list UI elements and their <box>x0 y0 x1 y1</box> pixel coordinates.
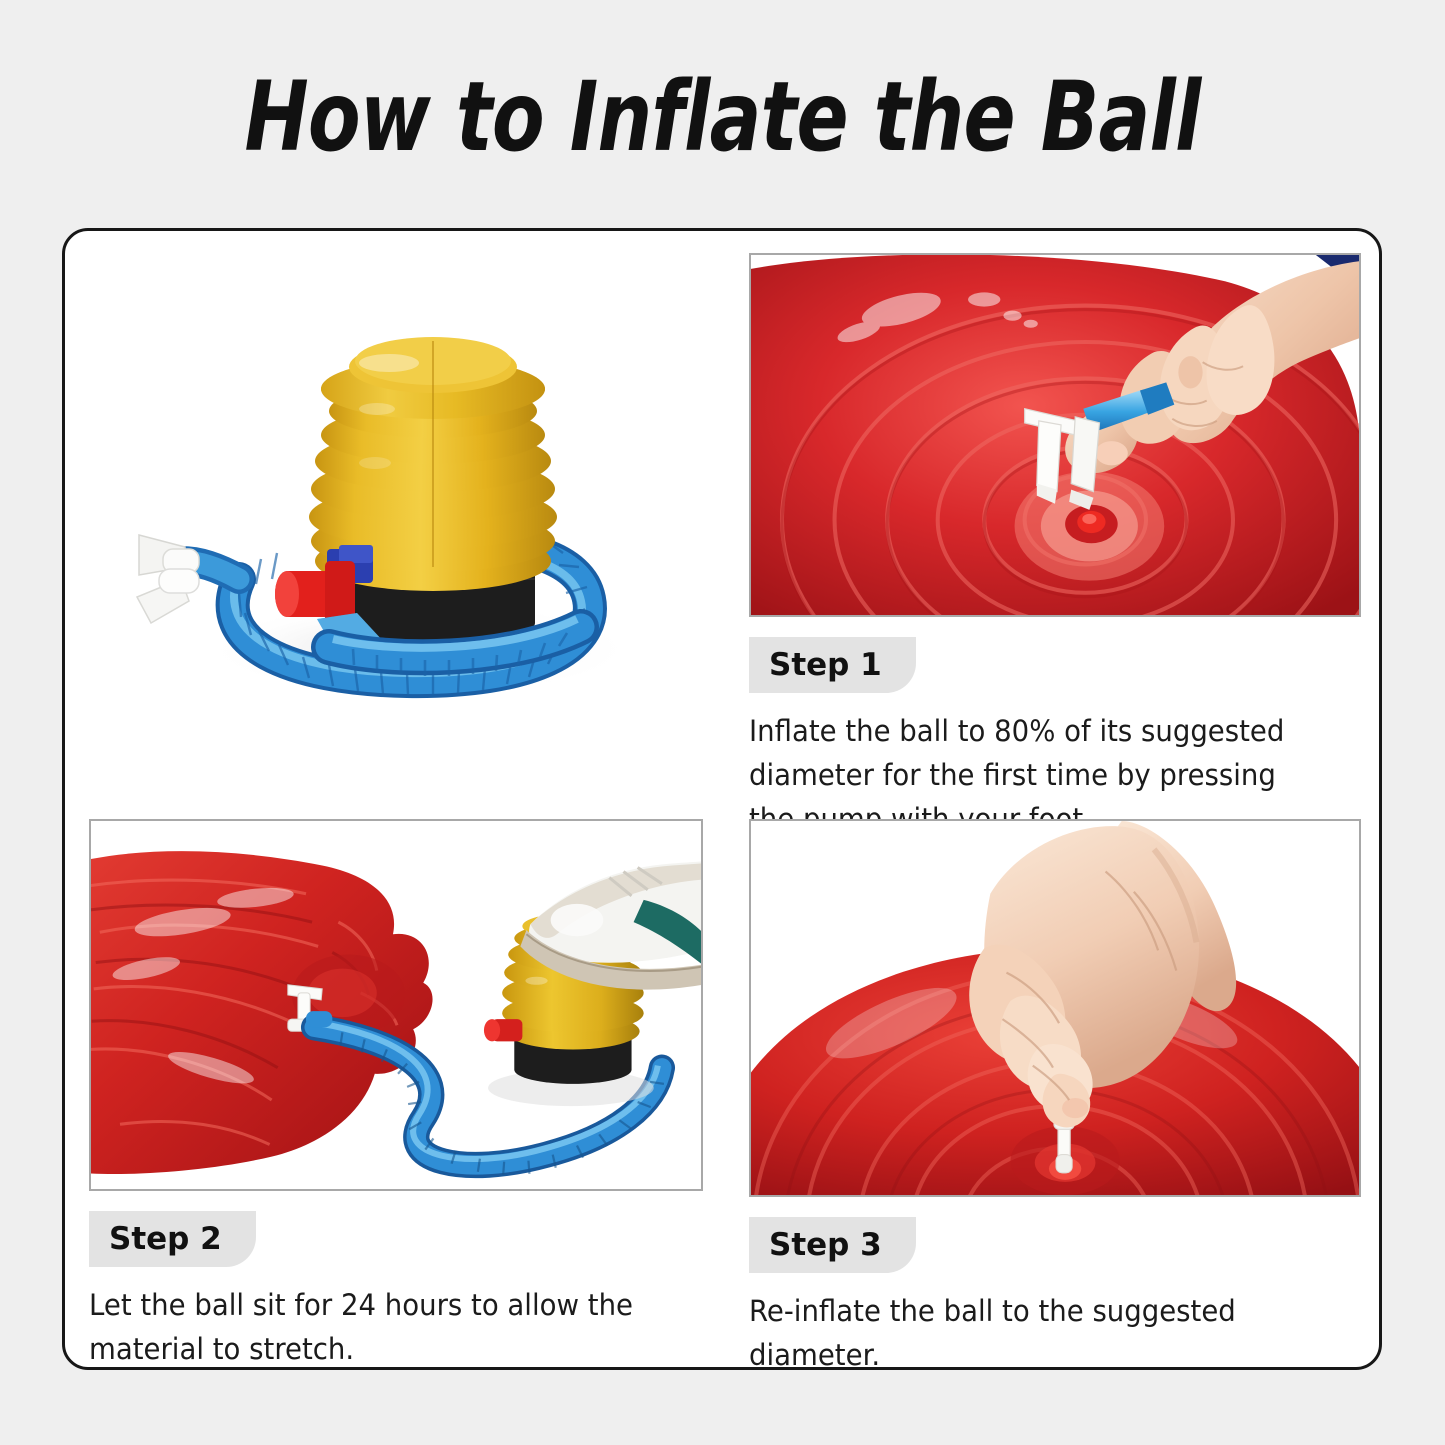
step3-badge: Step 3 <box>749 1217 916 1273</box>
step2-text: Let the ball sit for 24 hours to allow t… <box>89 1283 640 1371</box>
foot-pump-photo <box>89 249 725 761</box>
infographic-page: How to Inflate the Ball <box>0 0 1445 1445</box>
step3-photo <box>749 819 1361 1197</box>
hand-inserting-valve-plug-illustration <box>751 255 1359 615</box>
steps-card: Step 1 Inflate the ball to 80% of its su… <box>62 228 1382 1370</box>
step1-photo <box>749 253 1361 617</box>
panel-step3: Step 3 Re-inflate the ball to the sugges… <box>749 819 1361 1351</box>
page-title: How to Inflate the Ball <box>145 62 1301 172</box>
panel-step1: Step 1 Inflate the ball to 80% of its su… <box>749 253 1361 813</box>
step3-text: Re-inflate the ball to the suggested dia… <box>749 1289 1333 1377</box>
deflated-ball-with-pump-illustration <box>91 821 701 1189</box>
hand-removing-plug-illustration <box>751 821 1359 1195</box>
foot-pump-illustration <box>89 249 725 761</box>
step2-badge: Step 2 <box>89 1211 256 1267</box>
step1-badge: Step 1 <box>749 637 916 693</box>
step2-photo <box>89 819 703 1191</box>
panel-product <box>89 249 725 809</box>
steps-grid: Step 1 Inflate the ball to 80% of its su… <box>65 231 1379 1367</box>
panel-step2: Step 2 Let the ball sit for 24 hours to … <box>89 819 725 1351</box>
